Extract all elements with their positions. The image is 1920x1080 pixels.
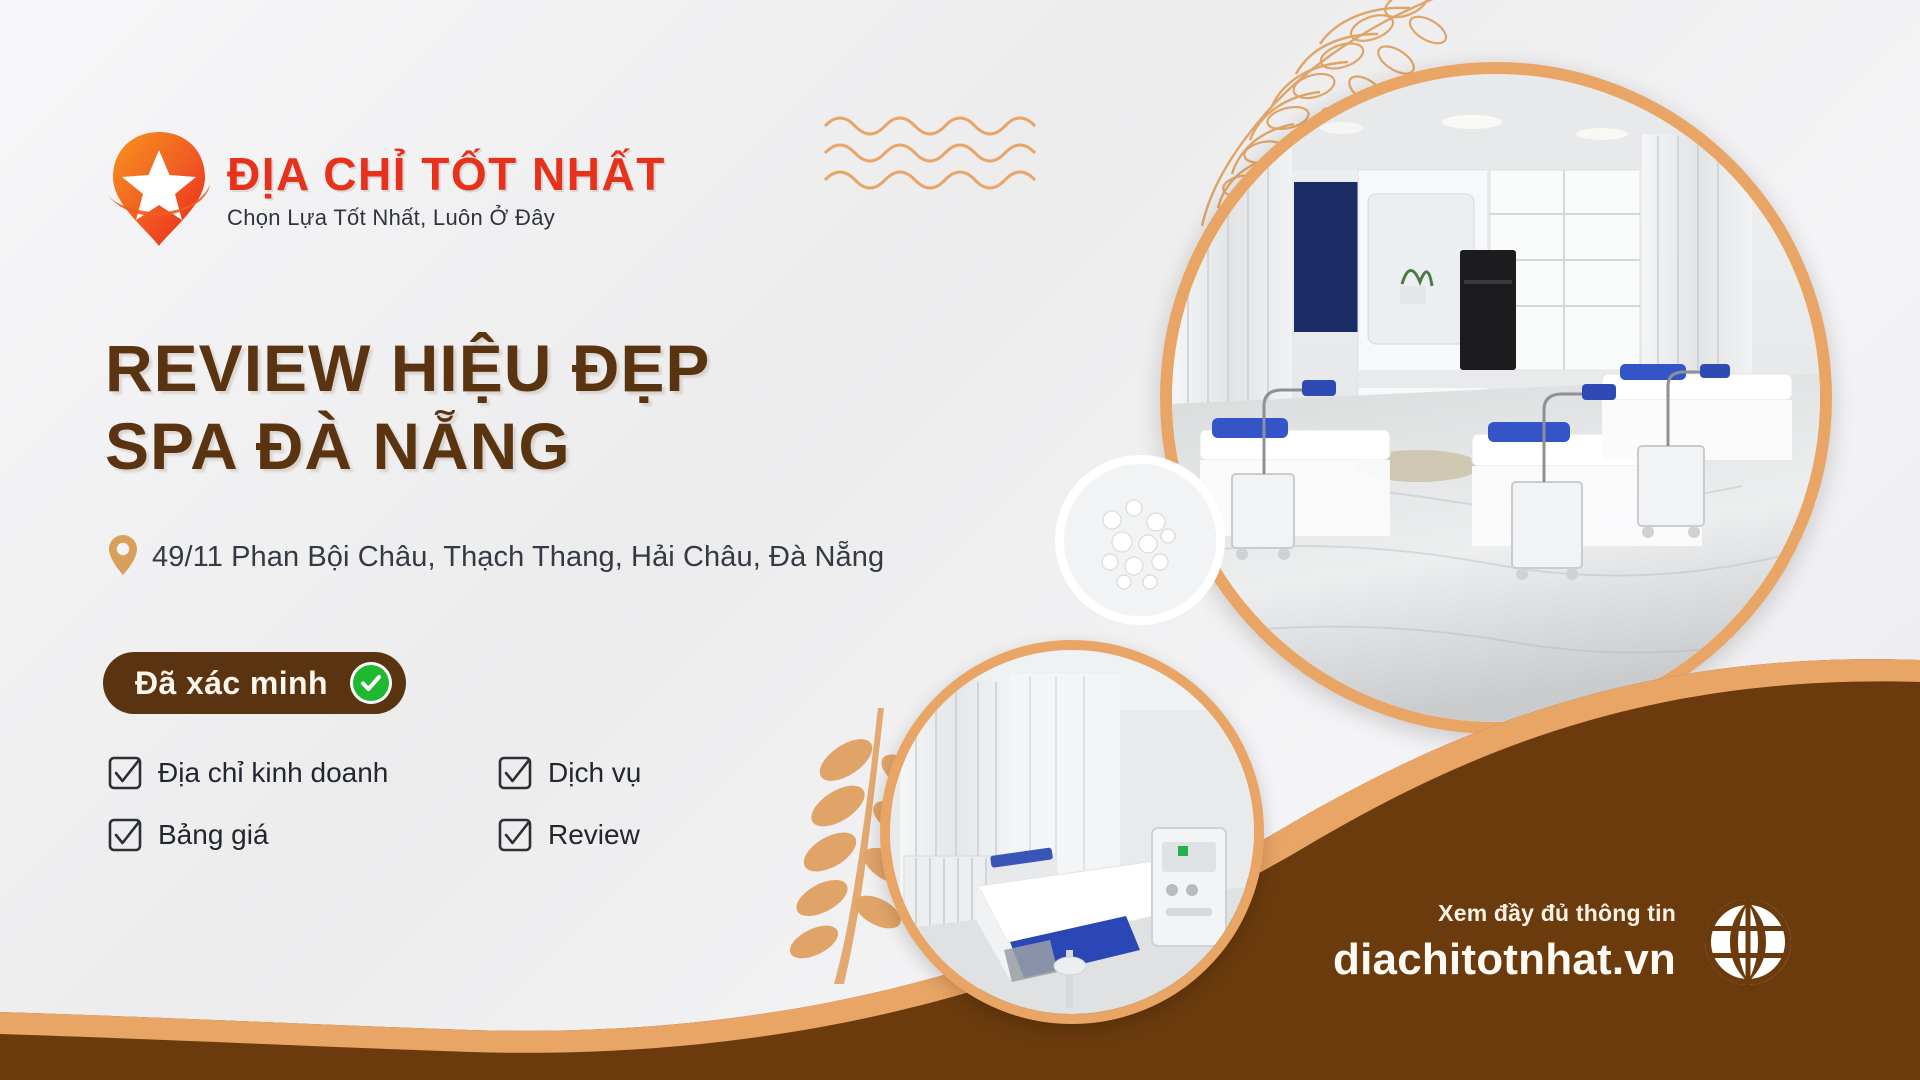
footer-tagline: Xem đầy đủ thông tin [1333, 900, 1676, 927]
globe-icon [1702, 896, 1794, 988]
address-row: 49/11 Phan Bội Châu, Thạch Thang, Hải Ch… [108, 534, 884, 581]
map-pin-star-icon [105, 128, 213, 250]
brand-logo[interactable]: ĐỊA CHỈ TỐT NHẤT Chọn Lựa Tốt Nhất, Luôn… [105, 128, 666, 250]
page-title-line-2: SPA ĐÀ NẴNG [105, 408, 710, 486]
location-pin-icon [108, 534, 138, 581]
page-title: REVIEW HIỆU ĐẸP SPA ĐÀ NẴNG [105, 330, 710, 486]
brand-tagline: Chọn Lựa Tốt Nhất, Luôn Ở Đây [227, 205, 666, 231]
decorative-texture-circle [1055, 455, 1225, 625]
page-title-line-1: REVIEW HIỆU ĐẸP [105, 330, 710, 408]
website-url: diachitotnhat.vn [1333, 935, 1676, 985]
website-cta[interactable]: Xem đầy đủ thông tin diachitotnhat.vn [1333, 896, 1794, 988]
banner-canvas: ĐỊA CHỈ TỐT NHẤT Chọn Lựa Tốt Nhất, Luôn… [0, 0, 1920, 1080]
wave-ornament [820, 108, 1060, 198]
address-text: 49/11 Phan Bội Châu, Thạch Thang, Hải Ch… [152, 541, 884, 574]
spa-treatment-bed-closeup-photo [880, 640, 1264, 1024]
brand-title: ĐỊA CHỈ TỐT NHẤT [227, 151, 666, 197]
